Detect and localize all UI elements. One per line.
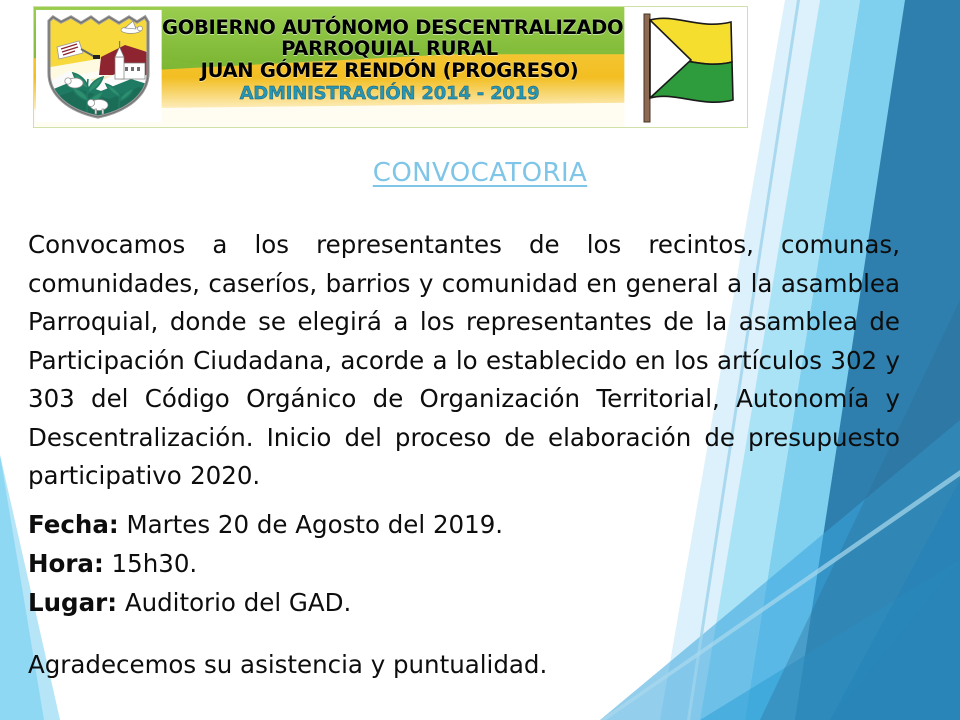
closing-line: Agradecemos su asistencia y puntualidad. (28, 648, 547, 682)
coat-of-arms-icon (39, 13, 157, 121)
deco-triangle-lower-b (700, 560, 960, 720)
detail-value-fecha: Martes 20 de Agosto del 2019. (126, 510, 503, 539)
detail-row: Lugar: Auditorio del GAD. (28, 583, 728, 622)
detail-label-fecha: Fecha: (28, 510, 119, 539)
banner-line-1: GOBIERNO AUTÓNOMO DESCENTRALIZADO (162, 17, 617, 38)
banner-title-group: GOBIERNO AUTÓNOMO DESCENTRALIZADO PARROQ… (162, 17, 617, 104)
banner-line-3: JUAN GÓMEZ RENDÓN (PROGRESO) (162, 60, 617, 81)
announcement-paragraph: Convocamos a los representantes de los r… (28, 226, 900, 496)
announcement-body: Convocamos a los representantes de los r… (28, 226, 900, 496)
detail-label-lugar: Lugar: (28, 588, 117, 617)
event-details: Fecha: Martes 20 de Agosto del 2019. Hor… (28, 505, 728, 622)
banner-line-2: PARROQUIAL RURAL (162, 38, 617, 59)
detail-value-hora: 15h30. (112, 549, 198, 578)
detail-row: Fecha: Martes 20 de Agosto del 2019. (28, 505, 728, 544)
parish-flag-icon (633, 10, 743, 126)
page-title: CONVOCATORIA (0, 158, 960, 188)
detail-row: Hora: 15h30. (28, 544, 728, 583)
slide-canvas: GOBIERNO AUTÓNOMO DESCENTRALIZADO PARROQ… (0, 0, 960, 720)
banner-administration-line: ADMINISTRACIÓN 2014 - 2019 (162, 84, 617, 103)
detail-label-hora: Hora: (28, 549, 104, 578)
deco-triangle-lower-d (830, 480, 960, 720)
detail-value-lugar: Auditorio del GAD. (125, 588, 352, 617)
header-banner: GOBIERNO AUTÓNOMO DESCENTRALIZADO PARROQ… (33, 6, 748, 128)
